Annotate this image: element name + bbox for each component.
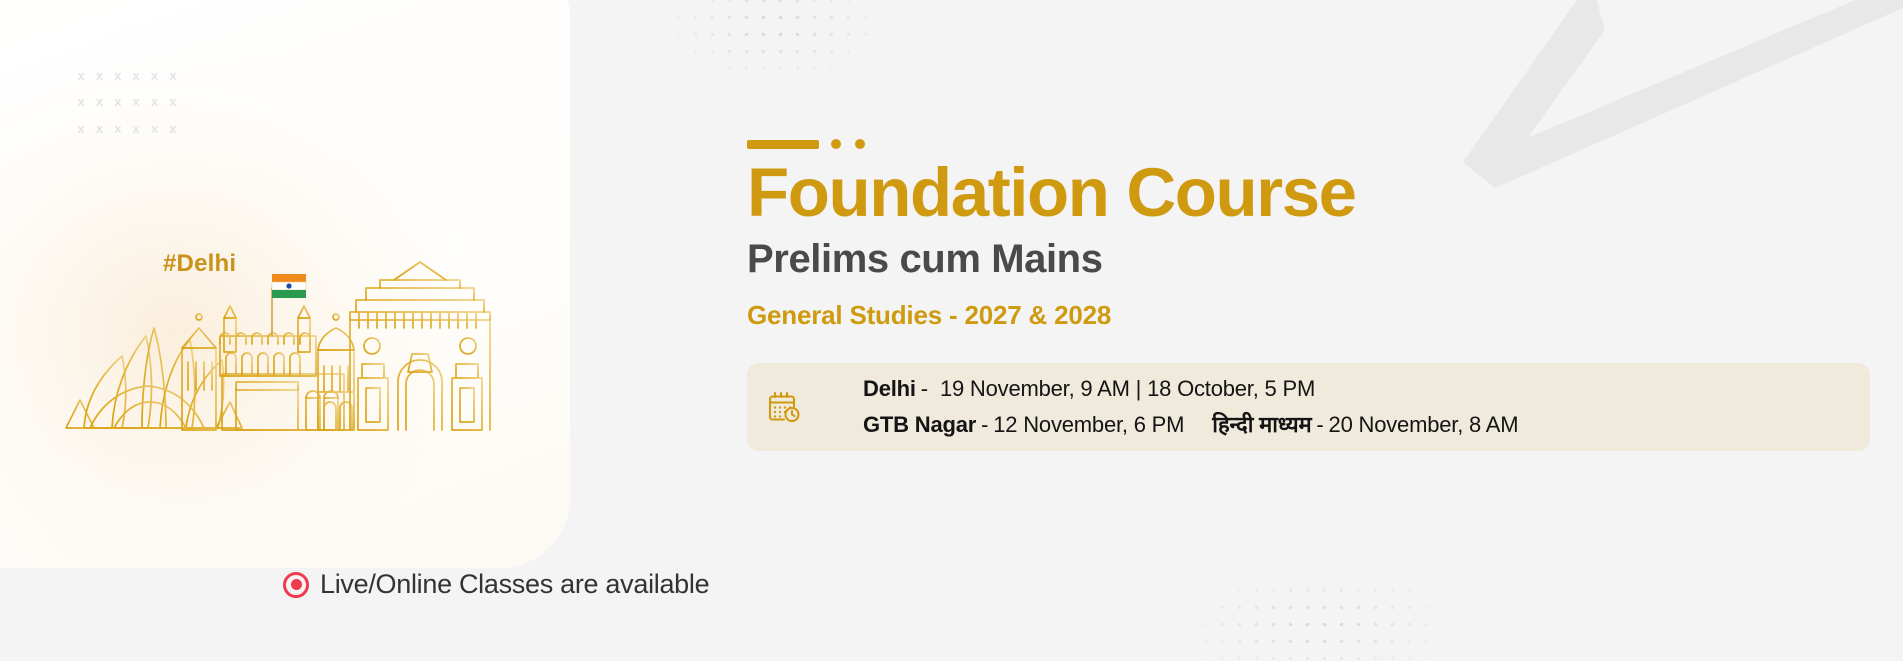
schedule-city-hindi: हिन्दी माध्यम [1212,409,1311,439]
eyebrow-dot-icon [831,139,841,149]
schedule-dash: - [921,376,928,402]
schedule-datetime: 20 November, 8 AM [1329,412,1519,438]
live-classes-badge: Live/Online Classes are available [283,569,709,600]
page-subtitle: Prelims cum Mains [747,237,1103,281]
schedule-dash: - [1316,412,1323,438]
delhi-skyline-illustration [50,232,520,447]
schedule-box: Delhi - 19 November, 9 AM | 18 October, … [747,363,1870,451]
live-radio-icon [283,572,309,598]
eyebrow-bar-icon [747,140,819,149]
foundation-course-banner: xxxxxx xxxxxx xxxxxx #Delhi [0,0,1903,661]
schedule-row: Delhi - 19 November, 9 AM | 18 October, … [817,376,1852,402]
eyebrow-dot-icon [855,139,865,149]
schedule-city: GTB Nagar [863,412,976,438]
schedule-dash: - [981,412,988,438]
schedule-datetime: 12 November, 6 PM [993,412,1184,438]
schedule-row: GTB Nagar - 12 November, 6 PM हिन्दी माध… [817,409,1852,439]
page-tagline: General Studies - 2027 & 2028 [747,300,1111,331]
page-title: Foundation Course [747,155,1356,231]
banner-content: Foundation Course Prelims cum Mains Gene… [747,0,1887,661]
schedule-datetime: 19 November, 9 AM | 18 October, 5 PM [940,376,1315,402]
indian-flag-icon [272,274,306,298]
calendar-clock-icon [767,390,801,424]
schedule-rows: Delhi - 19 November, 9 AM | 18 October, … [817,376,1852,439]
schedule-city: Delhi [863,376,916,402]
eyebrow-decoration [747,139,865,149]
live-classes-label: Live/Online Classes are available [320,569,709,600]
